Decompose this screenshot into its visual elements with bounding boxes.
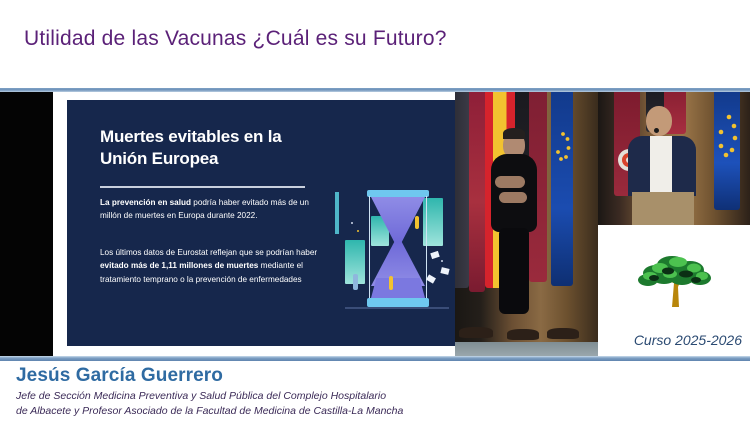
spark-dot-icon bbox=[441, 260, 443, 262]
interpreter-hands bbox=[495, 176, 525, 188]
flag bbox=[455, 92, 469, 288]
speaker-role: Jefe de Sección Medicina Preventiva y Sa… bbox=[16, 389, 536, 419]
paper-sheet-icon bbox=[430, 251, 439, 259]
hourglass-base-frame bbox=[367, 298, 429, 307]
auditorium-floor bbox=[455, 342, 598, 356]
accent-bar bbox=[335, 192, 339, 234]
slide-paragraph-1: La prevención en salud podría haber evit… bbox=[100, 196, 322, 223]
eu-stars-icon bbox=[555, 128, 571, 188]
hourglass-top-frame bbox=[367, 190, 429, 197]
presentation-slide[interactable]: Muertes evitables en la Unión Europea La… bbox=[67, 100, 455, 346]
flag-regional bbox=[469, 92, 485, 292]
flag-base bbox=[507, 329, 539, 340]
illustration-ground-line bbox=[345, 307, 449, 309]
slide-divider bbox=[100, 186, 305, 188]
speaker-name: Jesús García Guerrero bbox=[16, 365, 223, 387]
person-figure-icon bbox=[353, 274, 358, 290]
page-title: Utilidad de las Vacunas ¿Cuál es su Futu… bbox=[24, 27, 447, 51]
hourglass-outline bbox=[369, 196, 427, 299]
paper-sheet-icon bbox=[426, 274, 436, 283]
hourglass-illustration bbox=[345, 168, 453, 343]
stage-area: Muertes evitables en la Unión Europea La… bbox=[0, 92, 750, 356]
slide-paragraph-2-lead: Los últimos datos de Eurostat reflejan q… bbox=[100, 248, 317, 257]
sign-language-interpreter-video[interactable] bbox=[455, 92, 598, 356]
tree-icon bbox=[634, 247, 716, 309]
spark-dot-icon bbox=[351, 222, 353, 224]
flag-eu bbox=[551, 92, 573, 286]
course-label: Curso 2025-2026 bbox=[598, 332, 742, 348]
slide-paragraph-2: Los últimos datos de Eurostat reflejan q… bbox=[100, 246, 322, 286]
person-figure-icon bbox=[415, 216, 419, 229]
spark-dot-icon bbox=[357, 230, 359, 232]
flag-base bbox=[547, 328, 579, 339]
speaker-head bbox=[646, 106, 672, 136]
eu-stars-icon bbox=[718, 110, 738, 188]
footer-bar: Jesús García Guerrero Jefe de Sección Me… bbox=[0, 361, 750, 422]
slide-paragraph-2-bold: evitado más de 1,11 millones de muertes bbox=[100, 261, 258, 270]
tree-logo bbox=[634, 247, 716, 309]
slide-paragraph-1-bold: La prevención en salud bbox=[100, 198, 191, 207]
microphone-icon bbox=[654, 128, 659, 133]
interpreter-legs bbox=[499, 228, 529, 314]
presentation-screen: Utilidad de las Vacunas ¿Cuál es su Futu… bbox=[0, 0, 750, 422]
person-figure-icon bbox=[389, 276, 393, 290]
paper-sheet-icon bbox=[440, 267, 449, 275]
flag-base bbox=[459, 327, 493, 338]
interpreter-hands bbox=[499, 192, 527, 203]
slide-mat: Muertes evitables en la Unión Europea La… bbox=[53, 92, 455, 356]
speaker-shirt bbox=[650, 136, 672, 194]
logo-panel: Curso 2025-2026 bbox=[598, 225, 750, 356]
speaker-video[interactable] bbox=[598, 92, 750, 225]
interpreter-hair bbox=[503, 128, 525, 139]
header-bar: Utilidad de las Vacunas ¿Cuál es su Futu… bbox=[0, 0, 750, 88]
speaker-role-line-1: Jefe de Sección Medicina Preventiva y Sa… bbox=[16, 389, 536, 404]
letterbox-bar-left bbox=[0, 92, 53, 356]
slide-heading: Muertes evitables en la Unión Europea bbox=[100, 126, 320, 170]
speaker-trousers bbox=[632, 192, 694, 225]
speaker-role-line-2: de Albacete y Profesor Asociado de la Fa… bbox=[16, 404, 536, 419]
